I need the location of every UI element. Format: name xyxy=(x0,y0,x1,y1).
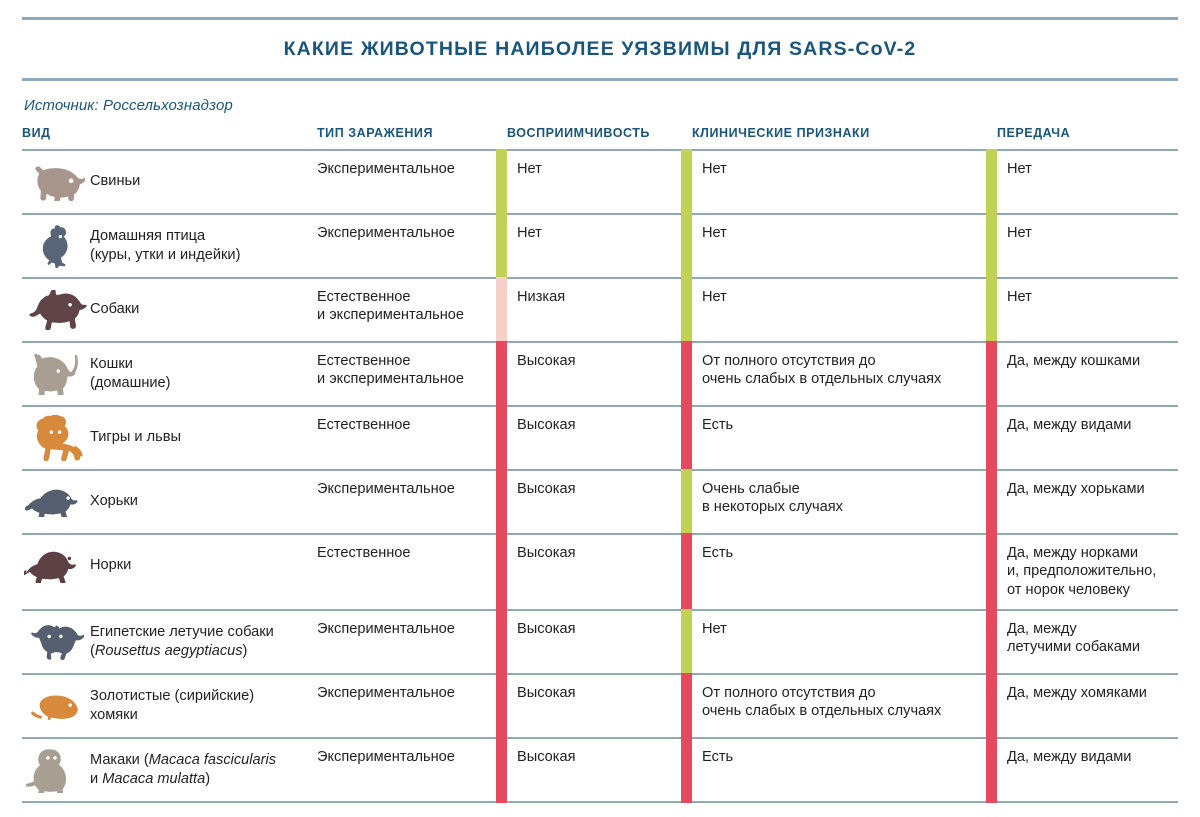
cell-line: Нет xyxy=(1007,224,1168,243)
clinical-signs-cell: Нет xyxy=(680,150,985,214)
transmission-cell: Да, между видами xyxy=(985,738,1178,802)
infection-type-cell: Экспериментальное xyxy=(317,738,495,802)
clinical-signs-level-bar xyxy=(681,213,692,279)
cell-line: Экспериментальное xyxy=(317,160,485,179)
column-header-transmission: ПЕРЕДАЧА xyxy=(985,126,1178,150)
cell-line: Домашняя птица xyxy=(90,227,240,246)
cell-line: Нет xyxy=(702,620,975,639)
species-label: Кошки(домашние) xyxy=(88,355,171,392)
transmission-cell: Да, между хорьками xyxy=(985,470,1178,534)
clinical-signs-cell: Есть xyxy=(680,738,985,802)
susceptibility-level-bar xyxy=(496,737,507,803)
clinical-signs-level-bar xyxy=(681,533,692,611)
cell-line: Высокая xyxy=(517,352,670,371)
species-cell: Норки xyxy=(22,534,317,610)
species-cell: Макаки (Macaca fascicularisи Macaca mula… xyxy=(22,738,317,802)
susceptibility-level-bar xyxy=(496,277,507,343)
cell-line: и Macaca mulatta) xyxy=(90,770,276,789)
cell-line: Нет xyxy=(702,160,975,179)
cell-line: Есть xyxy=(702,748,975,767)
cell-line: Да, между кошками xyxy=(1007,352,1168,371)
table-row: Тигры и львыЕстественноеВысокаяЕстьДа, м… xyxy=(22,406,1178,470)
susceptibility-cell: Высокая xyxy=(495,406,680,470)
cell-line: Есть xyxy=(702,544,975,563)
table-row: Домашняя птица(куры, утки и индейки)Эксп… xyxy=(22,214,1178,278)
susceptibility-level-bar xyxy=(496,341,507,407)
clinical-signs-level-bar xyxy=(681,673,692,739)
table-row: Кошки(домашние)Естественноеи эксперимент… xyxy=(22,342,1178,406)
species-label: Собаки xyxy=(88,300,139,319)
transmission-cell: Да, междулетучими собаками xyxy=(985,610,1178,674)
cell-line: Экспериментальное xyxy=(317,620,485,639)
susceptibility-cell: Нет xyxy=(495,214,680,278)
cell-line: Экспериментальное xyxy=(317,748,485,767)
cell-line: Есть xyxy=(702,416,975,435)
clinical-signs-level-bar xyxy=(681,341,692,407)
cell-line: Высокая xyxy=(517,684,670,703)
clinical-signs-cell: От полного отсутствия доочень слабых в о… xyxy=(680,342,985,406)
cell-line: Высокая xyxy=(517,416,670,435)
cell-line: Да, между видами xyxy=(1007,416,1168,435)
cell-line: (Rousettus aegyptiacus) xyxy=(90,642,274,661)
cell-line: Высокая xyxy=(517,480,670,499)
species-label: Свиньи xyxy=(88,172,140,191)
species-cell: Свиньи xyxy=(22,150,317,214)
header-row: ВИД ТИП ЗАРАЖЕНИЯ ВОСПРИИМЧИВОСТЬ КЛИНИЧ… xyxy=(22,126,1178,150)
cell-line: очень слабых в отдельных случаях xyxy=(702,370,975,389)
susceptibility-level-bar xyxy=(496,609,507,675)
susceptibility-cell: Высокая xyxy=(495,534,680,610)
infection-type-cell: Естественное xyxy=(317,534,495,610)
cell-line: и экспериментальное xyxy=(317,306,485,325)
infection-type-cell: Естественноеи экспериментальное xyxy=(317,278,495,342)
column-header-susceptibility: ВОСПРИИМЧИВОСТЬ xyxy=(495,126,680,150)
table-row: Макаки (Macaca fascicularisи Macaca mula… xyxy=(22,738,1178,802)
transmission-cell: Да, между норкамии, предположительно,от … xyxy=(985,534,1178,610)
cell-line: Да, между хорьками xyxy=(1007,480,1168,499)
bat-icon xyxy=(24,620,88,664)
cell-line: Нет xyxy=(517,224,670,243)
species-cell: Египетские летучие собаки(Rousettus aegy… xyxy=(22,610,317,674)
cell-line: От полного отсутствия до xyxy=(702,684,975,703)
cell-line: Норки xyxy=(90,556,131,575)
macaque-icon xyxy=(24,748,88,792)
cell-line: Нет xyxy=(1007,160,1168,179)
table-row: НоркиЕстественноеВысокаяЕстьДа, между но… xyxy=(22,534,1178,610)
clinical-signs-cell: От полного отсутствия доочень слабых в о… xyxy=(680,674,985,738)
transmission-level-bar xyxy=(986,277,997,343)
species-cell: Кошки(домашние) xyxy=(22,342,317,406)
cell-line: Да, между видами xyxy=(1007,748,1168,767)
susceptibility-cell: Высокая xyxy=(495,674,680,738)
species-cell: Домашняя птица(куры, утки и индейки) xyxy=(22,214,317,278)
cell-line: и, предположительно, xyxy=(1007,562,1168,581)
cell-line: Хорьки xyxy=(90,492,138,511)
transmission-level-bar xyxy=(986,673,997,739)
transmission-cell: Нет xyxy=(985,150,1178,214)
infection-type-cell: Экспериментальное xyxy=(317,470,495,534)
transmission-cell: Нет xyxy=(985,214,1178,278)
table-body: СвиньиЭкспериментальноеНетНетНетДомашняя… xyxy=(22,150,1178,802)
transmission-level-bar xyxy=(986,341,997,407)
transmission-level-bar xyxy=(986,533,997,611)
cell-line: Естественное xyxy=(317,288,485,307)
mink-icon xyxy=(24,544,88,588)
susceptibility-cell: Высокая xyxy=(495,738,680,802)
susceptibility-level-bar xyxy=(496,149,507,215)
species-cell: Золотистые (сирийские)хомяки xyxy=(22,674,317,738)
cell-line: Естественное xyxy=(317,352,485,371)
clinical-signs-level-bar xyxy=(681,469,692,535)
column-header-species: ВИД xyxy=(22,126,317,150)
susceptibility-level-bar xyxy=(496,469,507,535)
species-label: Тигры и львы xyxy=(88,428,181,447)
transmission-level-bar xyxy=(986,405,997,471)
species-cell: Тигры и львы xyxy=(22,406,317,470)
clinical-signs-level-bar xyxy=(681,277,692,343)
page-title: КАКИЕ ЖИВОТНЫЕ НАИБОЛЕЕ УЯЗВИМЫ ДЛЯ SARS… xyxy=(22,20,1178,78)
clinical-signs-level-bar xyxy=(681,609,692,675)
susceptibility-cell: Высокая xyxy=(495,610,680,674)
species-label: Золотистые (сирийские)хомяки xyxy=(88,687,254,724)
cell-line: Золотистые (сирийские) xyxy=(90,687,254,706)
clinical-signs-cell: Нет xyxy=(680,610,985,674)
cat-icon xyxy=(24,352,88,396)
source-note: Источник: Россельхознадзор xyxy=(22,81,1178,114)
table-row: ХорькиЭкспериментальноеВысокаяОчень слаб… xyxy=(22,470,1178,534)
cell-line: Собаки xyxy=(90,300,139,319)
transmission-level-bar xyxy=(986,609,997,675)
species-cell: Хорьки xyxy=(22,470,317,534)
susceptibility-cell: Высокая xyxy=(495,470,680,534)
hamster-icon xyxy=(24,684,88,728)
cell-line: Экспериментальное xyxy=(317,684,485,703)
cell-line: хомяки xyxy=(90,706,254,725)
cell-line: От полного отсутствия до xyxy=(702,352,975,371)
cell-line: в некоторых случаях xyxy=(702,498,975,517)
cell-line: Да, между xyxy=(1007,620,1168,639)
infographic-page: КАКИЕ ЖИВОТНЫЕ НАИБОЛЕЕ УЯЗВИМЫ ДЛЯ SARS… xyxy=(0,17,1200,817)
species-label: Египетские летучие собаки(Rousettus aegy… xyxy=(88,623,274,660)
clinical-signs-cell: Нет xyxy=(680,214,985,278)
lion-icon xyxy=(24,416,88,460)
species-label: Домашняя птица(куры, утки и индейки) xyxy=(88,227,240,264)
cell-line: Да, между хомяками xyxy=(1007,684,1168,703)
column-header-type: ТИП ЗАРАЖЕНИЯ xyxy=(317,126,495,150)
transmission-cell: Да, между видами xyxy=(985,406,1178,470)
clinical-signs-level-bar xyxy=(681,149,692,215)
susceptibility-cell: Высокая xyxy=(495,342,680,406)
table-row: Золотистые (сирийские)хомякиЭксперимента… xyxy=(22,674,1178,738)
cell-line: Экспериментальное xyxy=(317,480,485,499)
cell-line: Высокая xyxy=(517,544,670,563)
species-cell: Собаки xyxy=(22,278,317,342)
clinical-signs-level-bar xyxy=(681,405,692,471)
susceptibility-level-bar xyxy=(496,673,507,739)
susceptibility-cell: Низкая xyxy=(495,278,680,342)
cell-line: (домашние) xyxy=(90,374,171,393)
cell-line: Нет xyxy=(517,160,670,179)
cell-line: Тигры и львы xyxy=(90,428,181,447)
cell-line: от норок человеку xyxy=(1007,581,1168,600)
infection-type-cell: Экспериментальное xyxy=(317,674,495,738)
cell-line: Высокая xyxy=(517,748,670,767)
clinical-signs-level-bar xyxy=(681,737,692,803)
transmission-level-bar xyxy=(986,213,997,279)
clinical-signs-cell: Нет xyxy=(680,278,985,342)
cell-line: Высокая xyxy=(517,620,670,639)
transmission-cell: Да, между кошками xyxy=(985,342,1178,406)
table-row: СвиньиЭкспериментальноеНетНетНет xyxy=(22,150,1178,214)
transmission-cell: Да, между хомяками xyxy=(985,674,1178,738)
cell-line: (куры, утки и индейки) xyxy=(90,246,240,265)
vulnerability-table: ВИД ТИП ЗАРАЖЕНИЯ ВОСПРИИМЧИВОСТЬ КЛИНИЧ… xyxy=(22,126,1178,803)
cell-line: Египетские летучие собаки xyxy=(90,623,274,642)
transmission-cell: Нет xyxy=(985,278,1178,342)
cell-line: Нет xyxy=(702,224,975,243)
infection-type-cell: Экспериментальное xyxy=(317,610,495,674)
transmission-level-bar xyxy=(986,149,997,215)
cell-line: Экспериментальное xyxy=(317,224,485,243)
infection-type-cell: Естественное xyxy=(317,406,495,470)
susceptibility-level-bar xyxy=(496,213,507,279)
clinical-signs-cell: Есть xyxy=(680,406,985,470)
cell-line: Очень слабые xyxy=(702,480,975,499)
pig-icon xyxy=(24,160,88,204)
infection-type-cell: Экспериментальное xyxy=(317,214,495,278)
cell-line: Естественное xyxy=(317,544,485,563)
dog-icon xyxy=(24,288,88,332)
ferret-icon xyxy=(24,480,88,524)
transmission-level-bar xyxy=(986,469,997,535)
susceptibility-cell: Нет xyxy=(495,150,680,214)
infection-type-cell: Естественноеи экспериментальное xyxy=(317,342,495,406)
species-label: Норки xyxy=(88,556,131,575)
clinical-signs-cell: Есть xyxy=(680,534,985,610)
species-label: Макаки (Macaca fascicularisи Macaca mula… xyxy=(88,751,276,788)
clinical-signs-cell: Очень слабыев некоторых случаях xyxy=(680,470,985,534)
susceptibility-level-bar xyxy=(496,405,507,471)
cell-line: Низкая xyxy=(517,288,670,307)
transmission-level-bar xyxy=(986,737,997,803)
cell-line: Свиньи xyxy=(90,172,140,191)
cell-line: и экспериментальное xyxy=(317,370,485,389)
table-row: СобакиЕстественноеи экспериментальноеНиз… xyxy=(22,278,1178,342)
table-header: ВИД ТИП ЗАРАЖЕНИЯ ВОСПРИИМЧИВОСТЬ КЛИНИЧ… xyxy=(22,126,1178,150)
cell-line: Да, между норками xyxy=(1007,544,1168,563)
chicken-icon xyxy=(24,224,88,268)
cell-line: Макаки (Macaca fascicularis xyxy=(90,751,276,770)
cell-line: летучими собаками xyxy=(1007,638,1168,657)
column-header-clinical-signs: КЛИНИЧЕСКИЕ ПРИЗНАКИ xyxy=(680,126,985,150)
table-row: Египетские летучие собаки(Rousettus aegy… xyxy=(22,610,1178,674)
cell-line: Нет xyxy=(1007,288,1168,307)
susceptibility-level-bar xyxy=(496,533,507,611)
cell-line: Нет xyxy=(702,288,975,307)
cell-line: Кошки xyxy=(90,355,171,374)
infection-type-cell: Экспериментальное xyxy=(317,150,495,214)
cell-line: очень слабых в отдельных случаях xyxy=(702,702,975,721)
cell-line: Естественное xyxy=(317,416,485,435)
species-label: Хорьки xyxy=(88,492,138,511)
